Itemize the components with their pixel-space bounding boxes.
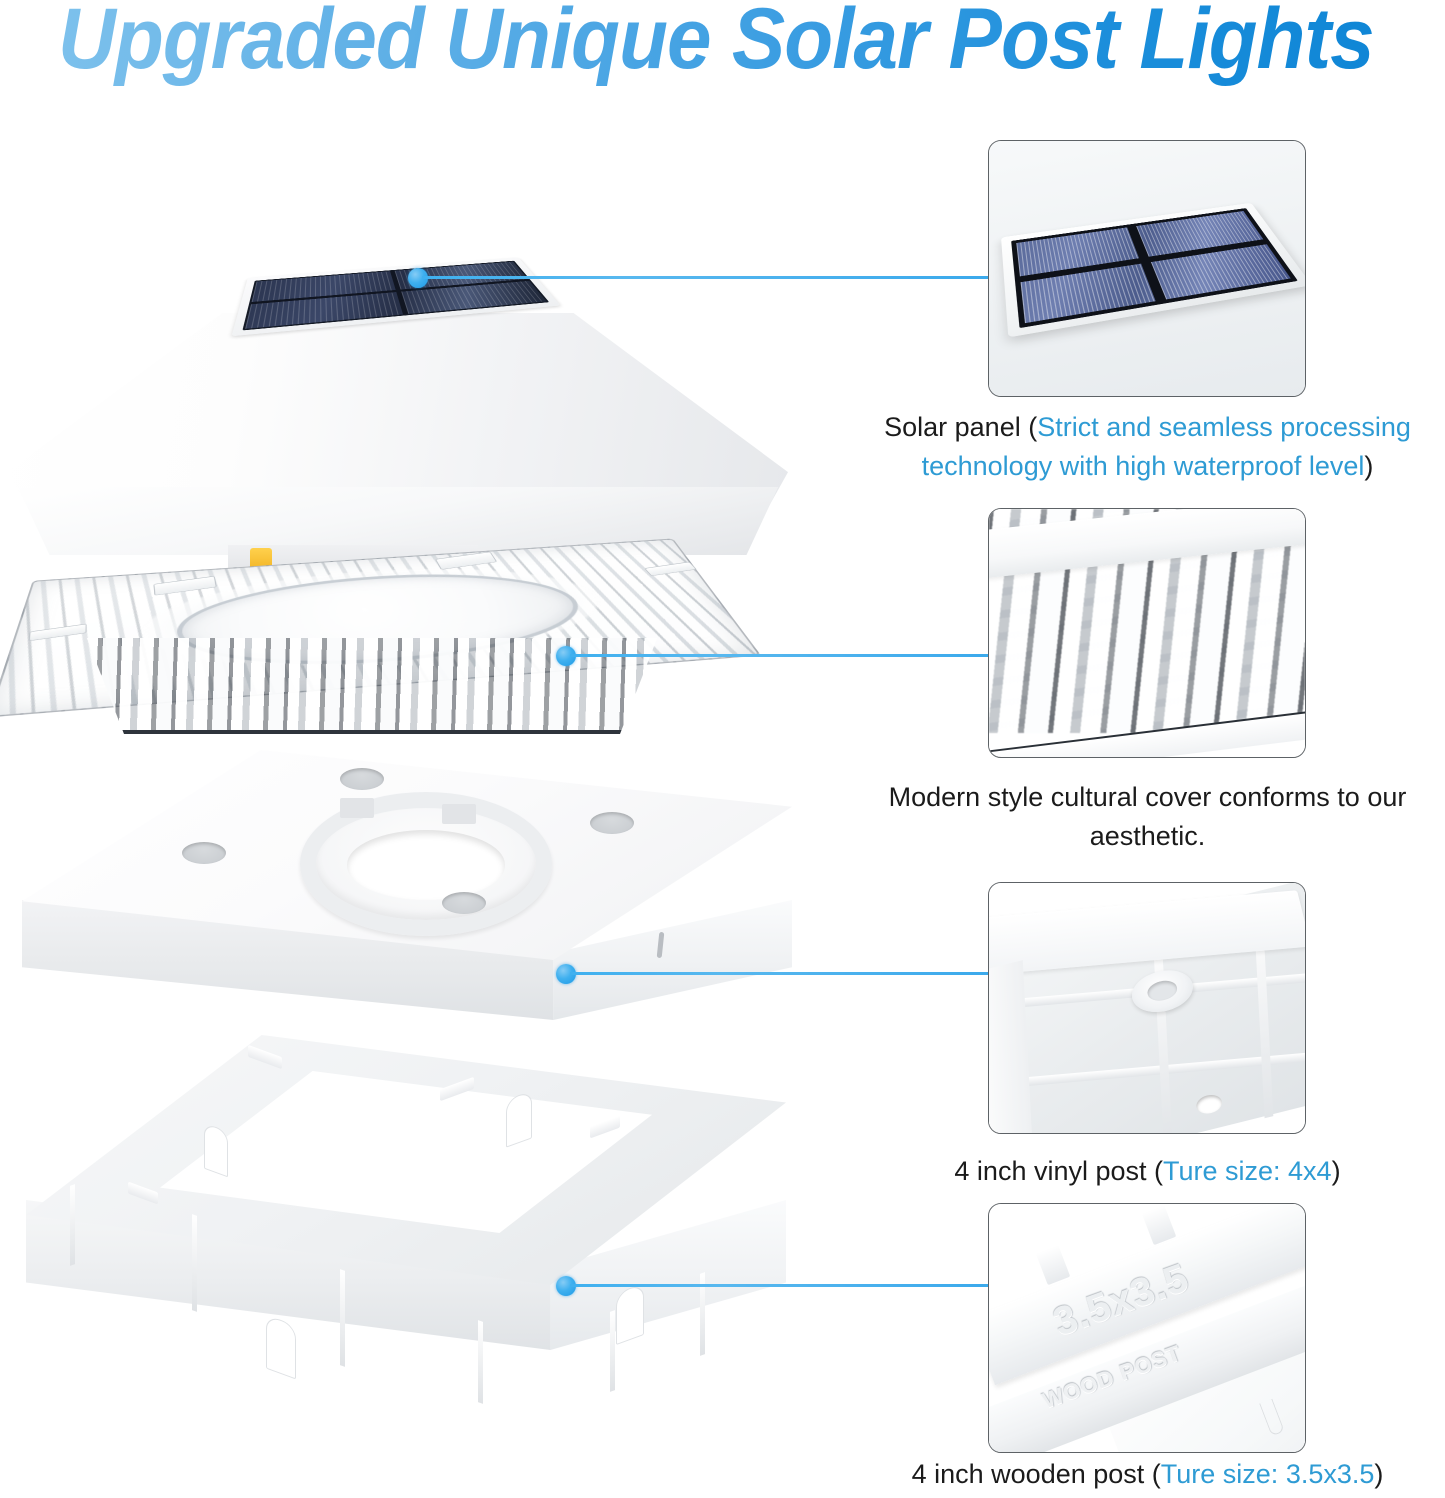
caption-lead-text: Modern style cultural cover conforms to … [889, 782, 1407, 851]
header: Upgraded Unique Solar Post Lights [0, 0, 1445, 92]
caption-lead-text: Solar panel ( [884, 412, 1037, 442]
frame-rib [340, 1269, 345, 1367]
product-part-crystal-cover [24, 510, 744, 740]
caption-highlight-text: Ture size: 4x4 [1163, 1156, 1332, 1186]
page-title: Upgraded Unique Solar Post Lights [58, 0, 1374, 89]
connector-line [570, 654, 1000, 657]
caption-tail-text: ) [1332, 1156, 1341, 1186]
callout-image-vinyl-post [988, 882, 1306, 1134]
callout-image-cultural-cover [988, 508, 1306, 758]
caption-vinyl-post: 4 inch vinyl post (Ture size: 4x4) [850, 1152, 1445, 1191]
base-center-collar [300, 792, 552, 936]
product-part-post-adapter-frame [10, 1035, 810, 1365]
frame-rib [610, 1310, 615, 1392]
crystal-textured-skirt [62, 638, 682, 734]
callout-image-wooden-post: 3.5x3.5 WOOD POST [988, 1203, 1306, 1453]
screw-hole [340, 768, 384, 790]
frame-rib [70, 1184, 75, 1266]
frame-slot [266, 1315, 296, 1380]
screw-hole [590, 812, 634, 834]
caption-cultural-cover: Modern style cultural cover conforms to … [850, 778, 1445, 856]
connector-line [570, 972, 1000, 975]
screw-hole [182, 842, 226, 864]
connector-line [570, 1284, 1000, 1287]
caption-tail-text: ) [1364, 451, 1373, 481]
caption-solar-panel: Solar panel (Strict and seamless process… [850, 408, 1445, 486]
connector-line [422, 276, 1000, 279]
caption-tail-text: ) [1374, 1459, 1383, 1489]
collar-notch [340, 798, 374, 818]
base-underside-macro [988, 882, 1306, 1134]
screw-hole [442, 892, 486, 914]
caption-highlight-text: Ture size: 3.5x3.5 [1161, 1459, 1375, 1489]
collar-notch [442, 804, 476, 824]
caption-wooden-post: 4 inch wooden post (Ture size: 3.5x3.5) [850, 1455, 1445, 1494]
frame-rib [192, 1214, 197, 1312]
exploded-product-diagram [0, 110, 850, 1498]
callout-image-solar-panel [988, 140, 1306, 397]
product-part-base-plate [10, 750, 810, 1050]
caption-lead-text: 4 inch wooden post ( [912, 1459, 1161, 1489]
frame-rib [478, 1320, 483, 1404]
caption-lead-text: 4 inch vinyl post ( [954, 1156, 1163, 1186]
